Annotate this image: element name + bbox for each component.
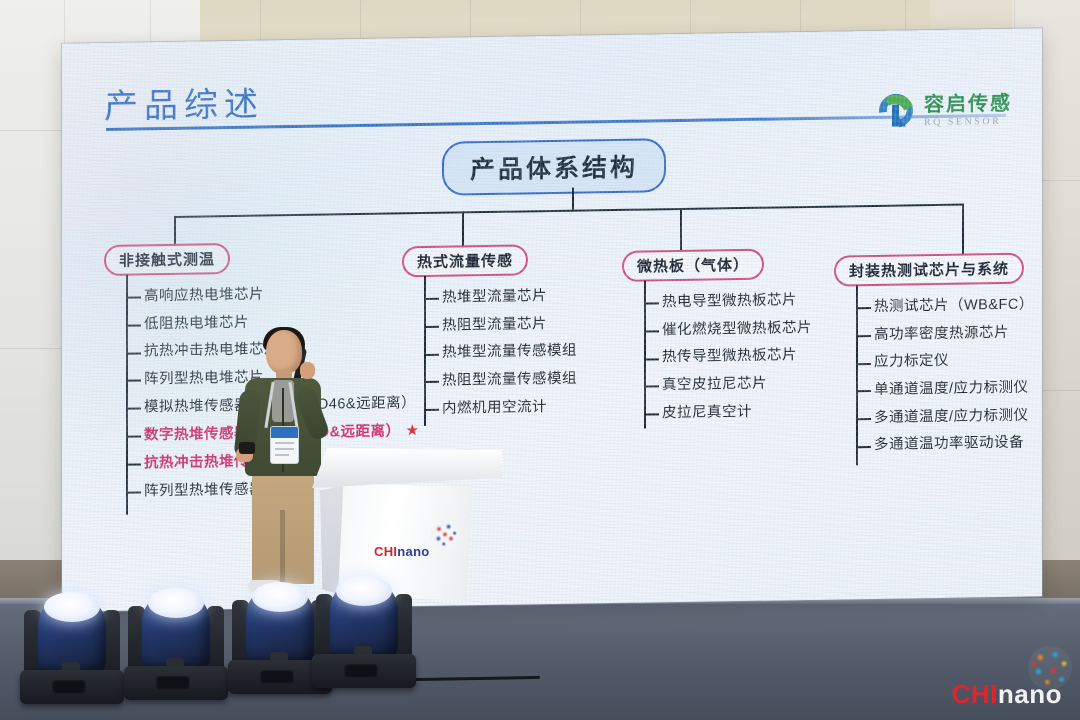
list-item: 高功率密度热源芯片: [858, 324, 1034, 343]
list-item: 热堆型流量传感模组: [426, 343, 577, 362]
branch-node-2: 热式流量传感: [402, 244, 528, 277]
chinano-watermark: CHInano: [952, 679, 1062, 710]
led-screen: 产品综述 容启传感 RQ SENSOR 产品体系结构: [62, 28, 1042, 611]
speaker-right-hand: [300, 362, 315, 379]
presenter-clicker: [239, 442, 255, 454]
list-item: 热阻型流量芯片: [426, 315, 577, 334]
list-item: 高响应热电堆芯片: [128, 284, 420, 305]
watermark-chi: CHI: [952, 679, 998, 709]
list-item: 真空皮拉尼芯片: [646, 375, 812, 394]
slide-title: 产品综述: [104, 77, 264, 129]
watermark-nano: nano: [998, 679, 1062, 709]
connector: [680, 208, 682, 252]
list-item: 多通道温度/应力标测仪: [858, 407, 1034, 426]
wall-seam: [470, 0, 471, 40]
list-item: 热测试芯片（WB&FC）: [858, 296, 1034, 315]
branch-node-4: 封装热测试芯片与系统: [834, 253, 1024, 287]
wall-seam: [260, 0, 261, 40]
podium-logo-nano: nano: [397, 544, 429, 559]
star-icon: ★: [406, 422, 420, 439]
branch-column-3: 热电导型微热板芯片 催化燃烧型微热板芯片 热传导型微热板芯片 真空皮拉尼芯片 皮…: [644, 278, 812, 431]
list-item: 热电导型微热板芯片: [646, 292, 812, 311]
watermark-text: CHInano: [952, 679, 1062, 710]
chinano-sphere-icon: [430, 520, 460, 550]
branch-node-3: 微热板（气体）: [622, 249, 764, 282]
list-item: 热传导型微热板芯片: [646, 347, 812, 366]
connector: [462, 211, 464, 247]
list-item: 内燃机用空流计: [426, 398, 577, 417]
connector: [572, 188, 574, 210]
podium-logo: CHInano: [374, 544, 430, 559]
podium-logo-chi: CHI: [374, 544, 397, 559]
screenshot-root: 产品综述 容启传感 RQ SENSOR 产品体系结构: [0, 0, 1080, 720]
wall-seam: [360, 0, 361, 40]
wall-seam: [580, 0, 581, 40]
stage-light-1: [18, 588, 126, 706]
branch-node-1: 非接触式测温: [104, 243, 230, 276]
stage-light-2: [122, 584, 230, 702]
stage-light-4: [310, 572, 418, 690]
company-logo: 容启传感 RQ SENSOR: [875, 91, 1012, 131]
branch-spine: [126, 275, 128, 515]
list-item: 热堆型流量芯片: [426, 288, 577, 307]
logo-text-cn: 容启传感: [924, 93, 1012, 114]
list-item: 单通道温度/应力标测仪: [858, 379, 1034, 398]
branch-column-2: 热堆型流量芯片 热阻型流量芯片 热堆型流量传感模组 热阻型流量传感模组 内燃机用…: [424, 274, 577, 427]
connector: [174, 216, 176, 246]
logo-text-en: RQ SENSOR: [924, 116, 1012, 127]
connector: [174, 204, 964, 218]
connector: [962, 204, 964, 256]
list-item: 多通道温功率驱动设备: [858, 435, 1034, 454]
root-node: 产品体系结构: [442, 138, 666, 196]
name-badge: [270, 426, 299, 464]
rq-sensor-logo-icon: [875, 92, 917, 131]
list-item: 热阻型流量传感模组: [426, 371, 577, 390]
branch-column-4: 热测试芯片（WB&FC） 高功率密度热源芯片 应力标定仪 单通道温度/应力标测仪…: [856, 282, 1034, 463]
speaker-head: [266, 330, 302, 374]
list-item: 应力标定仪: [858, 352, 1034, 371]
speaker-leg-gap: [280, 510, 285, 584]
list-item: 催化燃烧型微热板芯片: [646, 320, 812, 339]
podium-top: [312, 448, 502, 488]
list-item: 皮拉尼真空计: [646, 403, 812, 422]
